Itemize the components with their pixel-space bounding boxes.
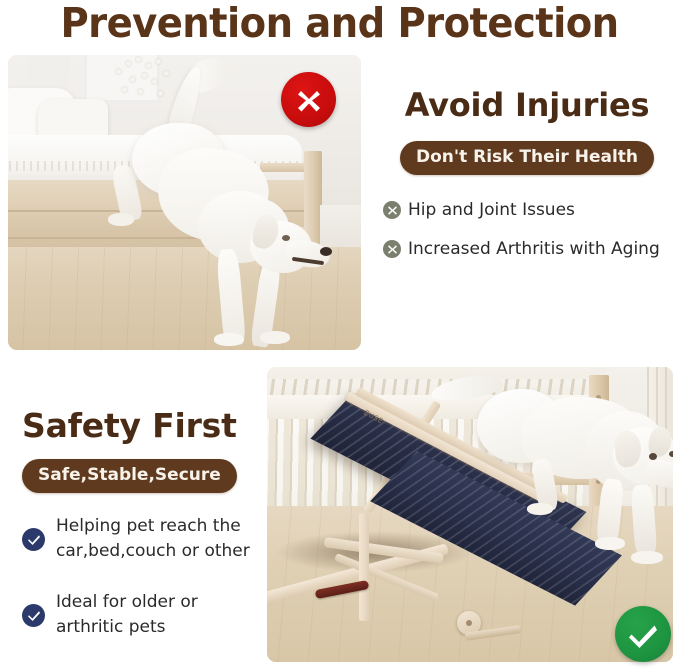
dog-nose	[320, 247, 332, 256]
dog2-front-paw-left	[595, 537, 625, 550]
dog-front-paw-right	[260, 331, 290, 344]
benefit-bullet-list: Helping pet reach the car,bed,couch or o…	[22, 514, 272, 640]
dont-risk-badge-wrap: Don't Risk Their Health	[383, 141, 671, 175]
dog2-eye-left	[649, 453, 657, 460]
list-item: Ideal for older or arthritic pets	[22, 590, 272, 640]
list-item-line-1: Ideal for older or	[56, 590, 198, 615]
list-item-line-2: arthritic pets	[56, 615, 198, 640]
safety-first-section: Safety First Safe,Stable,Secure Helping …	[22, 406, 272, 666]
list-item: Increased Arthritis with Aging	[383, 238, 671, 260]
risk-bullet-list: Hip and Joint Issues Increased Arthritis…	[383, 199, 671, 260]
list-item: Helping pet reach the car,bed,couch or o…	[22, 514, 272, 564]
safety-first-heading: Safety First	[22, 406, 272, 446]
page-title: Prevention and Protection	[20, 0, 658, 48]
avoid-injuries-section: Avoid Injuries Don't Risk Their Health H…	[383, 86, 671, 277]
dog2-front-paw-right	[631, 551, 663, 564]
ramp-support-leg-vertical	[359, 513, 369, 621]
dog-eye	[282, 235, 290, 241]
safe-stable-secure-badge-wrap: Safe,Stable,Secure	[22, 459, 272, 493]
x-icon	[383, 201, 401, 219]
safe-stable-secure-badge: Safe,Stable,Secure	[22, 459, 237, 493]
dog-jumping	[70, 63, 300, 343]
list-item: Hip and Joint Issues	[383, 199, 671, 221]
red-x-icon	[281, 72, 336, 127]
dog2-hind-paw	[527, 503, 553, 515]
dog2-eye-right	[669, 451, 673, 457]
list-item-label: Increased Arthritis with Aging	[408, 238, 660, 260]
list-item-line-2: car,bed,couch or other	[56, 539, 250, 564]
dog2-front-leg-right	[631, 484, 658, 557]
avoid-injuries-heading: Avoid Injuries	[383, 86, 671, 124]
wall-art-left	[28, 55, 70, 85]
check-icon	[22, 528, 45, 551]
dog-front-paw-left	[214, 333, 244, 346]
x-icon	[383, 240, 401, 258]
bedroom-background-2: ZUSE	[267, 367, 673, 662]
list-item-label: Helping pet reach the car,bed,couch or o…	[56, 514, 250, 564]
green-check-icon	[615, 606, 671, 662]
dog2-front-leg-left	[596, 478, 625, 546]
photo-dog-on-ramp: ZUSE	[267, 367, 673, 662]
check-icon	[22, 604, 45, 627]
dog-hind-paw	[108, 213, 134, 226]
list-item-label: Ideal for older or arthritic pets	[56, 590, 198, 640]
list-item-label: Hip and Joint Issues	[408, 199, 575, 221]
dog-on-ramp	[417, 375, 673, 585]
dont-risk-badge: Don't Risk Their Health	[400, 141, 654, 175]
list-item-line-1: Helping pet reach the	[56, 514, 250, 539]
